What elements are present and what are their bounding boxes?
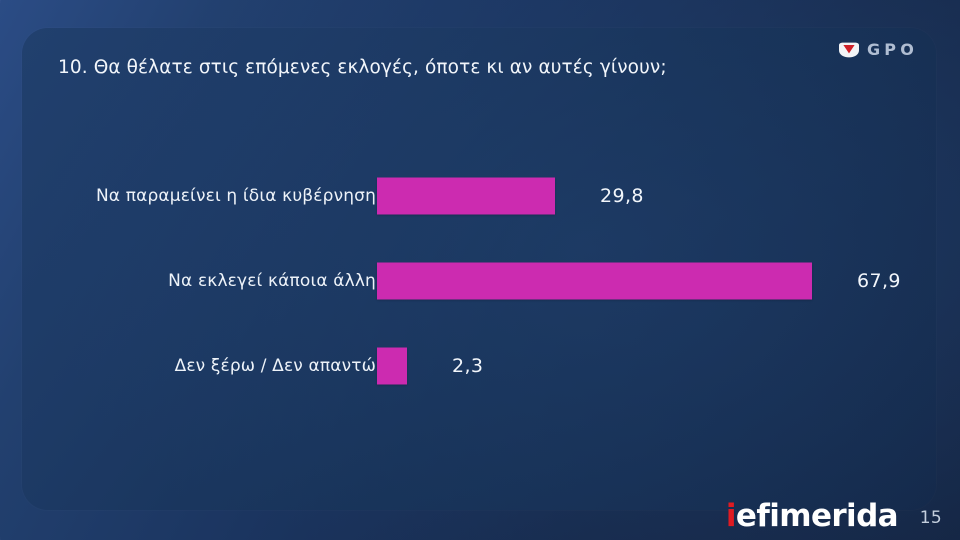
bar-value: 67,9 <box>857 270 901 292</box>
bar-label: Να εκλεγεί κάποια άλλη <box>22 271 376 291</box>
chart-row: Δεν ξέρω / Δεν απαντώ 2,3 <box>22 323 936 408</box>
gpo-wordmark: GPO <box>867 40 918 59</box>
bar-value: 2,3 <box>452 355 483 377</box>
gpo-shield-icon <box>838 42 860 58</box>
slide-canvas: 10. Θα θέλατε στις επόμενες εκλογές, όπο… <box>0 0 960 540</box>
content-panel: 10. Θα θέλατε στις επόμενες εκλογές, όπο… <box>22 28 936 510</box>
iefimerida-logo-text: efimerida <box>736 498 898 534</box>
page-number: 15 <box>920 508 942 528</box>
page-title: 10. Θα θέλατε στις επόμενες εκλογές, όπο… <box>58 56 848 80</box>
iefimerida-logo-accent: i <box>726 498 736 534</box>
chart-row: Να παραμείνει η ίδια κυβέρνηση 29,8 <box>22 153 936 238</box>
bar-chart: Να παραμείνει η ίδια κυβέρνηση 29,8 Να ε… <box>22 153 936 408</box>
iefimerida-logo: iefimerida <box>726 501 898 532</box>
bar-segment <box>377 177 555 214</box>
bar-value: 29,8 <box>600 185 644 207</box>
gpo-logo: GPO <box>838 40 918 59</box>
bar-segment <box>377 347 407 384</box>
bar-label: Να παραμείνει η ίδια κυβέρνηση <box>22 186 376 206</box>
chart-row: Να εκλεγεί κάποια άλλη 67,9 <box>22 238 936 323</box>
bar-label: Δεν ξέρω / Δεν απαντώ <box>22 356 376 376</box>
bar-segment <box>377 262 812 299</box>
